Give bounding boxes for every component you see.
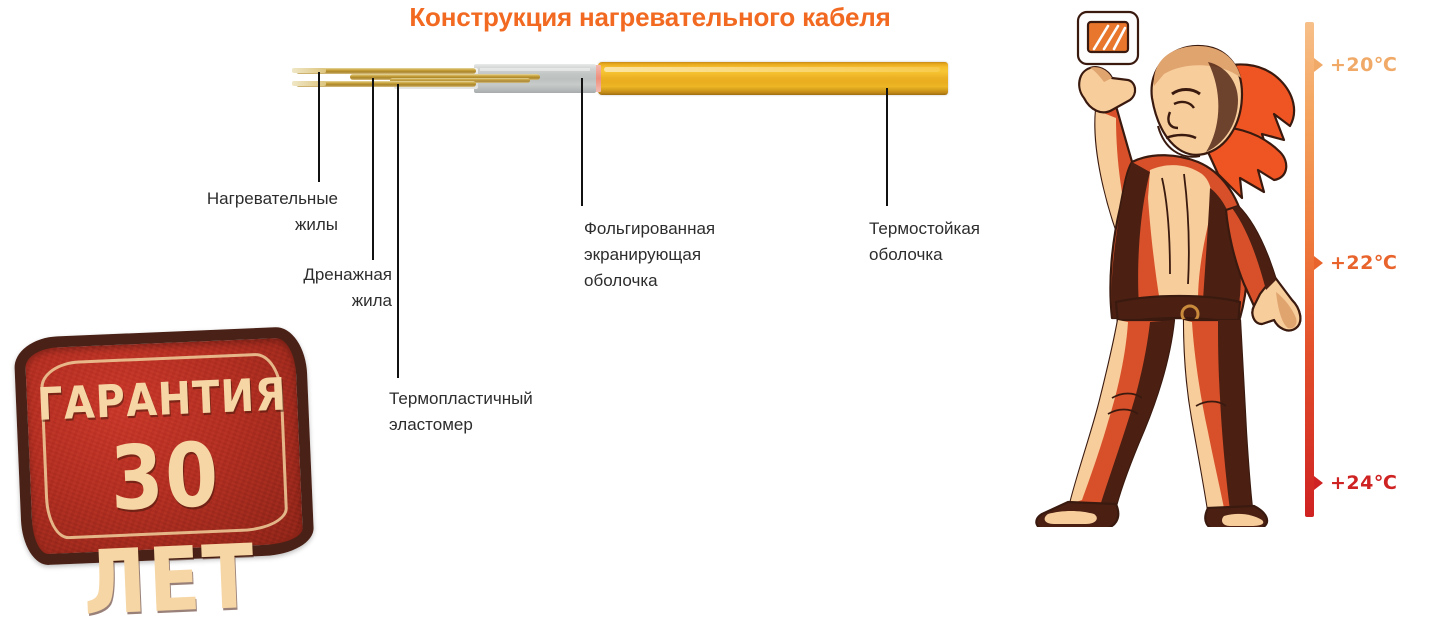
leader-line-heat-resistant	[886, 88, 888, 206]
leader-line-foil-screen	[581, 78, 583, 206]
temperature-gradient-bar	[1305, 22, 1314, 517]
poster-canvas: Конструкция нагревательного кабеля Нагре…	[0, 0, 1455, 580]
foil-highlight	[480, 68, 590, 71]
worker-illustration	[1012, 2, 1312, 527]
callout-foil-screen: Фольгированная экранирующая оболочка	[584, 216, 834, 294]
conductor-tip-top	[292, 68, 326, 73]
conductor-tip-bottom	[292, 81, 326, 86]
temperature-tick-24: +24℃	[1314, 472, 1397, 494]
callout-thermoplastic: Термопластичный эластомер	[389, 386, 639, 438]
guarantee-badge: ГАРАНТИЯ 30 ЛЕТ	[13, 326, 314, 566]
leader-line-thermoplastic	[397, 84, 399, 378]
tick-arrow-icon	[1314, 476, 1323, 490]
leader-line-heating-cores	[318, 72, 320, 182]
temperature-value-24: +24℃	[1330, 472, 1397, 494]
tick-arrow-icon	[1314, 256, 1323, 270]
badge-line-2: 30 ЛЕТ	[28, 419, 306, 637]
temperature-value-20: +20℃	[1330, 54, 1397, 76]
temperature-tick-22: +22℃	[1314, 252, 1397, 274]
temperature-tick-20: +20℃	[1314, 54, 1397, 76]
leader-line-drain-wire	[372, 78, 374, 260]
sheath-highlight	[604, 67, 940, 72]
cable-cutaway-diagram	[290, 55, 950, 103]
callout-heating-cores: Нагревательные жилы	[120, 186, 338, 238]
page-title: Конструкция нагревательного кабеля	[300, 2, 1000, 33]
tick-arrow-icon	[1314, 58, 1323, 72]
temperature-value-22: +22℃	[1330, 252, 1397, 274]
callout-drain-wire: Дренажная жила	[170, 262, 392, 314]
badge-plate: ГАРАНТИЯ 30 ЛЕТ	[13, 326, 314, 566]
